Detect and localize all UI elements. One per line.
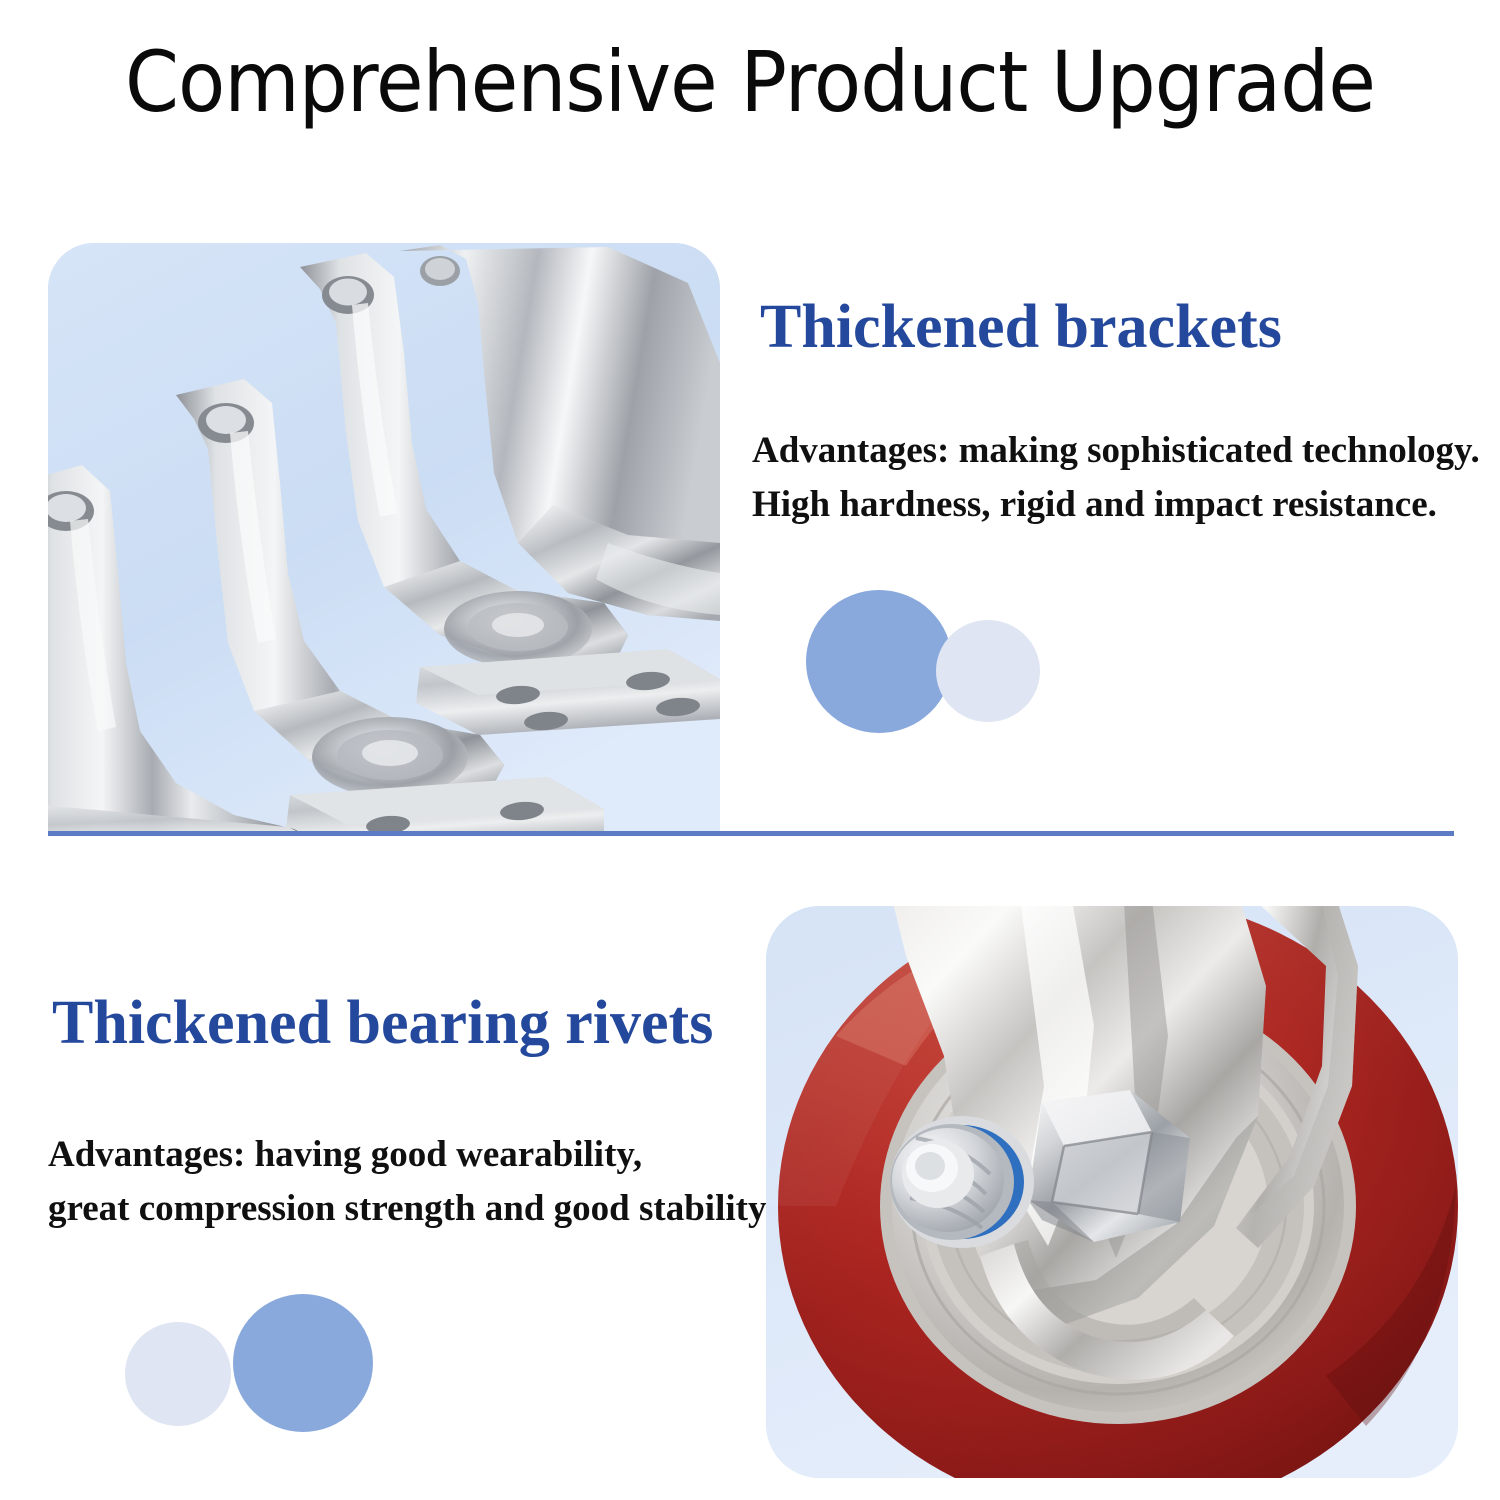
page-title: Comprehensive Product Upgrade (60, 34, 1440, 130)
decorative-circle-blue-bottom (233, 1294, 373, 1432)
brackets-body: Advantages: making sophisticated technol… (752, 424, 1480, 532)
rivets-body-line-2: great compression strength and good stab… (48, 1182, 774, 1236)
brackets-photo (48, 243, 720, 831)
rivets-body: Advantages: having good wearability, gre… (48, 1128, 774, 1236)
decorative-circle-blue-top (806, 590, 952, 733)
brackets-heading: Thickened brackets (760, 292, 1282, 362)
brackets-photo-panel (48, 243, 720, 831)
rivets-heading: Thickened bearing rivets (52, 988, 713, 1058)
wheel-photo-panel (766, 906, 1458, 1478)
brackets-body-line-1: Advantages: making sophisticated technol… (752, 424, 1480, 478)
section-divider (48, 831, 1454, 836)
rivets-body-line-1: Advantages: having good wearability, (48, 1128, 774, 1182)
brackets-body-line-2: High hardness, rigid and impact resistan… (752, 478, 1480, 532)
decorative-circle-pale-bottom (125, 1322, 231, 1426)
decorative-circle-pale-top (936, 620, 1040, 722)
wheel-photo (766, 906, 1458, 1478)
